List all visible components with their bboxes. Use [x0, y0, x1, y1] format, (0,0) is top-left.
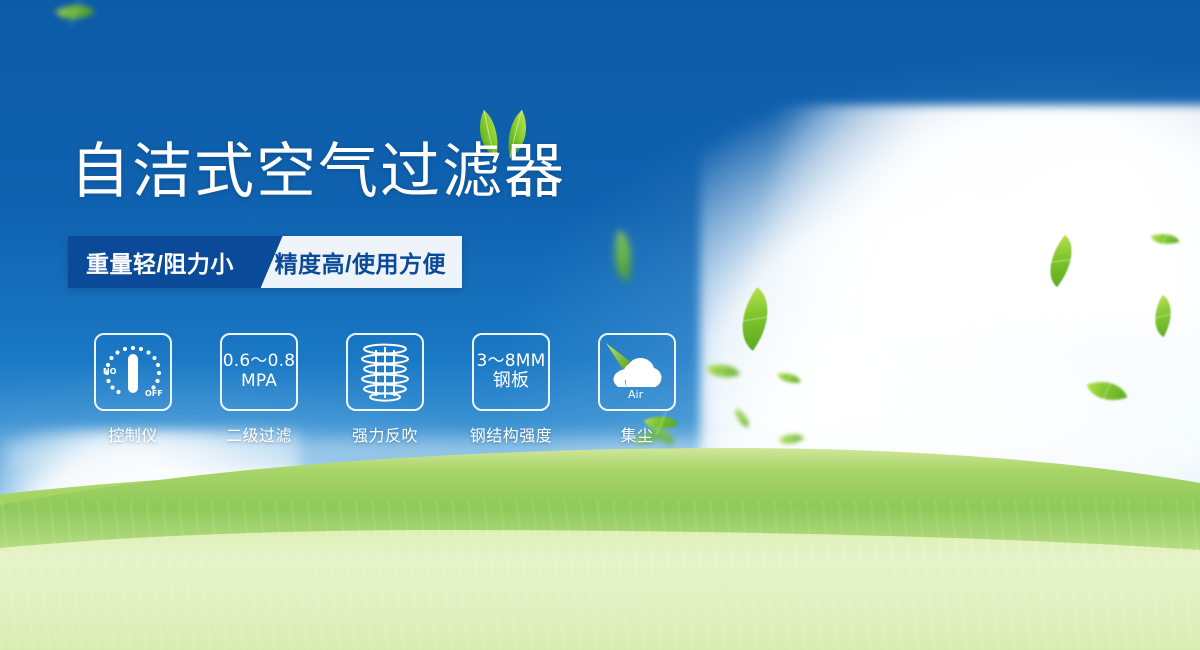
feature-list: NO OFF 控制仪 0.6〜0.8 MPA 二级过滤	[70, 333, 700, 446]
cloud-air-icon: Air	[598, 333, 676, 411]
feature-label: 控制仪	[108, 422, 158, 446]
feature-item-dust[interactable]: Air 集尘	[574, 333, 700, 446]
feature-label: 钢结构强度	[470, 422, 553, 446]
steel-material: 钢板	[493, 371, 529, 392]
page-title: 自洁式空气过滤器	[70, 142, 566, 202]
steel-thickness: 3〜8MM	[477, 352, 546, 372]
feature-item-steel[interactable]: 3〜8MM 钢板 钢结构强度	[448, 333, 574, 446]
feature-label: 强力反吹	[352, 422, 418, 446]
gauge-icon: NO OFF	[94, 333, 172, 411]
pressure-text-icon: 0.6〜0.8 MPA	[220, 333, 298, 411]
product-banner: 自洁式空气过滤器 重量轻/阻力小 精度高/使用方便	[0, 0, 1200, 650]
feature-item-control[interactable]: NO OFF 控制仪	[70, 333, 196, 446]
subtitle-bar: 重量轻/阻力小 精度高/使用方便	[68, 236, 462, 288]
gauge-off-label: OFF	[145, 389, 163, 398]
grass-texture	[0, 500, 1200, 650]
feature-item-blowback[interactable]: 强力反吹	[322, 333, 448, 446]
pressure-unit: MPA	[241, 372, 277, 392]
air-label: Air	[628, 388, 644, 401]
feature-label: 二级过滤	[226, 422, 292, 446]
steel-plate-text-icon: 3〜8MM 钢板	[472, 333, 550, 411]
gauge-no-label: NO	[103, 367, 117, 376]
subtitle-segment-right: 精度高/使用方便	[261, 236, 462, 288]
subtitle-segment-left: 重量轻/阻力小	[68, 236, 283, 288]
grass-field	[0, 420, 1200, 650]
filter-stack-icon	[346, 333, 424, 411]
pressure-range: 0.6〜0.8	[223, 352, 295, 372]
feature-item-pressure[interactable]: 0.6〜0.8 MPA 二级过滤	[196, 333, 322, 446]
